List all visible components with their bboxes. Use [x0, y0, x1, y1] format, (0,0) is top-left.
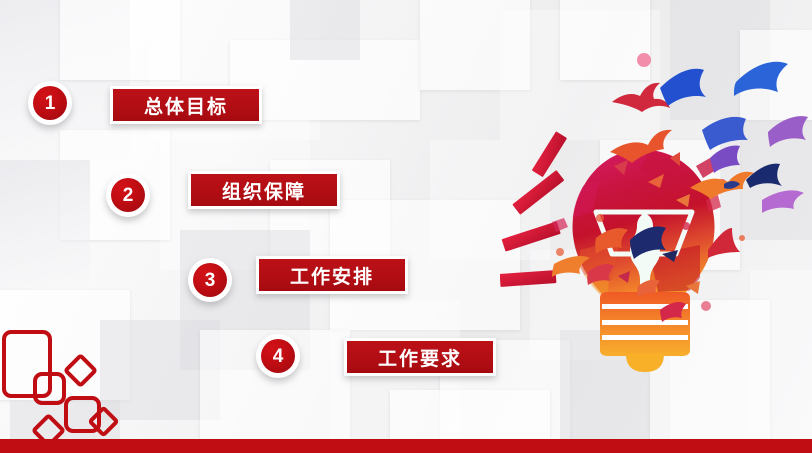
- decor-shapes-group: [0, 322, 130, 442]
- agenda-number-1: 1: [33, 86, 67, 120]
- agenda-number-circle-1[interactable]: 1: [28, 81, 72, 125]
- agenda-number-circle-2[interactable]: 2: [106, 173, 150, 217]
- agenda-number-circle-4[interactable]: 4: [256, 334, 300, 378]
- decor-diamond-top: [63, 353, 98, 388]
- agenda-number-2: 2: [111, 178, 145, 212]
- agenda-label-4: 工作要求: [378, 344, 462, 371]
- agenda-number-3: 3: [193, 263, 227, 297]
- agenda-banner-2[interactable]: 组织保障: [188, 171, 340, 209]
- lightbulb-artwork: [500, 40, 812, 380]
- decor-rounded-square-small: [33, 372, 66, 405]
- agenda-banner-3[interactable]: 工作安排: [256, 256, 408, 294]
- agenda-banner-4[interactable]: 工作要求: [344, 338, 496, 376]
- agenda-banner-1[interactable]: 总体目标: [110, 86, 262, 124]
- slide-canvas: 1 总体目标 2 组织保障 3 工作安排: [0, 0, 812, 453]
- agenda-label-3: 工作安排: [290, 262, 374, 289]
- agenda-number-4: 4: [261, 339, 295, 373]
- agenda-number-circle-3[interactable]: 3: [188, 258, 232, 302]
- agenda-label-1: 总体目标: [144, 92, 228, 119]
- agenda-label-2: 组织保障: [222, 177, 306, 204]
- bottom-accent-bar: [0, 439, 812, 453]
